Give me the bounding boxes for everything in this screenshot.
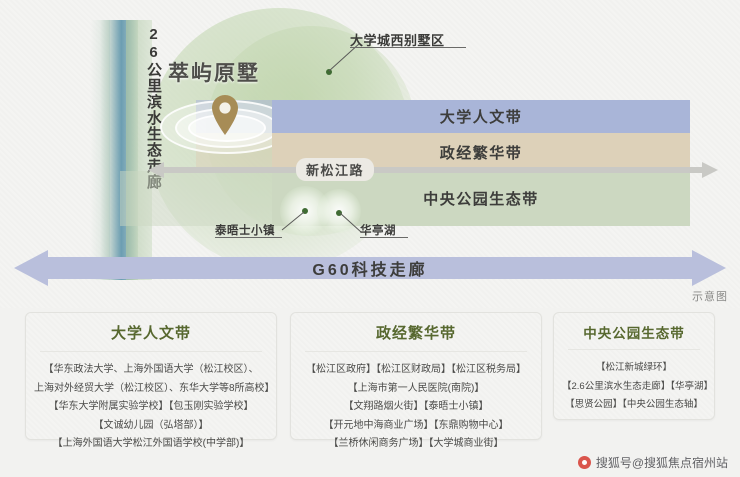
- card-line: 【开元地中海商业广场】【东鼎购物中心】: [299, 417, 533, 436]
- card-line: 【上海市第一人民医院(南院)】: [299, 380, 533, 399]
- card-line: 【思贤公园】【中央公园生态轴】: [562, 396, 706, 415]
- location-pin-icon: [211, 95, 239, 135]
- diagram-disclaimer: 示意图: [692, 288, 728, 304]
- card-line: 【华东政法大学、上海外国语大学（松江校区）、: [34, 361, 268, 380]
- card-line: 【兰桥休闲商务广场】【大学城商业街】: [299, 435, 533, 454]
- card-government-economy[interactable]: 政经繁华带 【松江区政府】【松江区财政局】【松江区税务局】 【上海市第一人民医院…: [290, 312, 542, 440]
- band-university-culture-label: 大学人文带: [440, 106, 523, 127]
- band-government-economy-label: 政经繁华带: [440, 142, 523, 163]
- annotation-thames-town: 泰晤士小镇: [215, 222, 275, 238]
- annotation-road-xinsongjiang: 新松江路: [296, 158, 374, 181]
- card-line: 【松江区政府】【松江区财政局】【松江区税务局】: [299, 361, 533, 380]
- annotation-huating-lake: 华亭湖: [360, 222, 396, 238]
- card-government-economy-body: 【松江区政府】【松江区财政局】【松江区税务局】 【上海市第一人民医院(南院)】 …: [291, 352, 541, 454]
- band-extension-park: [120, 171, 272, 226]
- card-line: 【文诚幼儿园（弘塔部）】: [34, 417, 268, 436]
- card-university-culture[interactable]: 大学人文带 【华东政法大学、上海外国语大学（松江校区）、 上海对外经贸大学（松江…: [25, 312, 277, 440]
- card-central-park-eco-body: 【松江新城绿环】 【2.6公里滨水生态走廊】【华亭湖】 【思贤公园】【中央公园生…: [554, 350, 714, 415]
- card-line: 上海对外经贸大学（松江校区）、东华大学等8所高校】: [34, 380, 268, 399]
- card-line: 【华东大学附属实验学校】【包玉刚实验学校】: [34, 398, 268, 417]
- card-central-park-eco[interactable]: 中央公园生态带 【松江新城绿环】 【2.6公里滨水生态走廊】【华亭湖】 【思贤公…: [553, 312, 715, 420]
- card-university-culture-body: 【华东政法大学、上海外国语大学（松江校区）、 上海对外经贸大学（松江校区）、东华…: [26, 352, 276, 454]
- card-government-economy-title: 政经繁华带: [291, 313, 541, 351]
- road-arrow: [148, 161, 718, 179]
- thames-town-leader-line: [280, 210, 308, 232]
- card-central-park-eco-title: 中央公园生态带: [554, 313, 714, 349]
- sohu-logo-icon: [578, 456, 591, 469]
- project-name-label: 萃屿原墅: [168, 57, 260, 87]
- watermark: 搜狐号@搜狐焦点宿州站: [578, 454, 728, 471]
- annotation-thames-town-rule: [215, 237, 282, 238]
- band-university-culture: 大学人文带: [272, 100, 690, 133]
- watermark-text: 搜狐号@搜狐焦点宿州站: [596, 454, 728, 471]
- map-diagram: 26公里滨水生态走廊 萃屿原墅 大学城西别墅区 大学人文带 政经繁华带 中央公园…: [0, 0, 740, 308]
- annotation-villa-zone-rule: [350, 47, 466, 48]
- band-central-park-eco-label: 中央公园生态带: [423, 188, 539, 209]
- annotation-huating-lake-rule: [360, 237, 408, 238]
- zone-cards-row: 大学人文带 【华东政法大学、上海外国语大学（松江校区）、 上海对外经贸大学（松江…: [0, 312, 740, 452]
- card-line: 【2.6公里滨水生态走廊】【华亭湖】: [562, 378, 706, 397]
- g60-corridor-label: G60科技走廊: [0, 248, 740, 288]
- card-university-culture-title: 大学人文带: [26, 313, 276, 351]
- card-line: 【上海外国语大学松江外国语学校(中学部)】: [34, 435, 268, 454]
- card-line: 【松江新城绿环】: [562, 359, 706, 378]
- card-line: 【文翔路烟火街】【泰晤士小镇】: [299, 398, 533, 417]
